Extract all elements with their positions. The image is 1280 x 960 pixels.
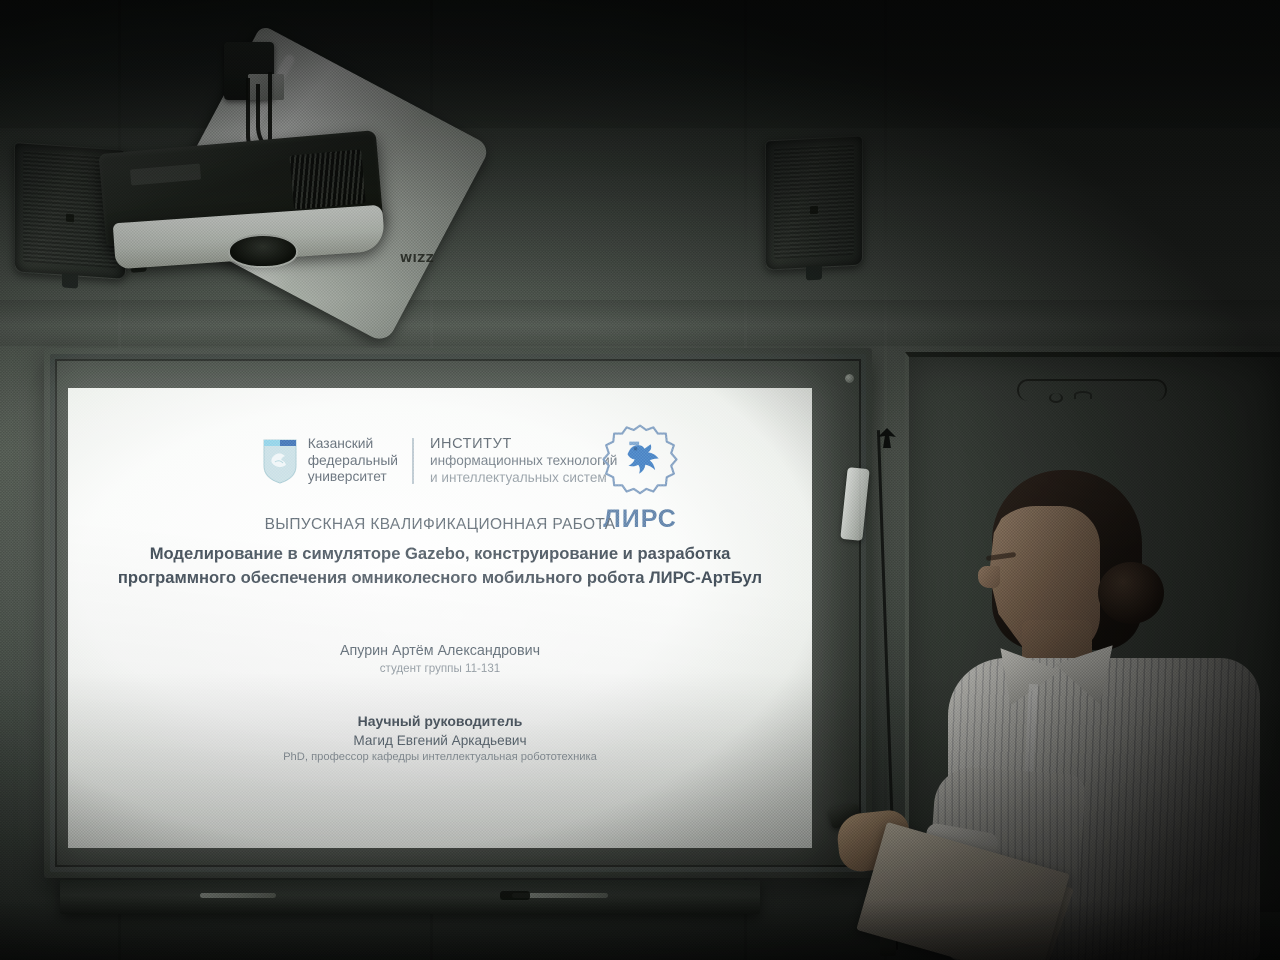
speaker-center-dot <box>810 205 818 213</box>
wall-band <box>0 300 1280 346</box>
wall-speaker-right <box>765 135 863 270</box>
lirs-gear-dragon-icon <box>588 422 692 509</box>
supervisor-name: Магид Евгений Аркадьевич <box>94 733 786 748</box>
ceiling-projector: WIZZ <box>96 26 456 276</box>
marker-scribble <box>1017 379 1167 401</box>
kfu-shield-icon <box>263 438 297 484</box>
speaker-bracket <box>806 266 822 281</box>
slide-body: ВЫПУСКНАЯ КВАЛИФИКАЦИОННАЯ РАБОТА Модели… <box>68 516 812 763</box>
supervisor-role: PhD, профессор кафедры интеллектуальная … <box>94 751 786 763</box>
projector-brand-label: WIZZ <box>400 252 434 265</box>
marker[interactable] <box>200 893 276 898</box>
logo-divider <box>412 438 414 484</box>
thesis-title-line-2: программного обеспечения омниколесного м… <box>94 566 786 590</box>
speaker-center-dot <box>66 213 74 222</box>
thesis-title-line-1: Моделирование в симуляторе Gazebo, конст… <box>94 542 786 566</box>
kfu-logo-group: Казанский федеральный университет <box>263 436 398 486</box>
author-name: Апурин Артём Александрович <box>94 643 786 659</box>
hair-bun <box>1098 562 1164 624</box>
supervisor-label: Научный руководитель <box>94 713 786 729</box>
projector-label-plate <box>130 164 201 186</box>
frame-screw <box>845 374 854 383</box>
marker-scribble <box>1049 393 1063 403</box>
kfu-line-1: Казанский <box>308 436 398 453</box>
speaker-grille <box>774 144 854 259</box>
author-block: Апурин Артём Александрович студент групп… <box>94 643 786 675</box>
projected-slide: Казанский федеральный университет ИНСТИТ… <box>68 388 812 848</box>
nose <box>978 566 1000 588</box>
kfu-line-2: федеральный <box>308 453 398 470</box>
kfu-line-3: университет <box>308 469 398 486</box>
projector-vent <box>289 149 365 209</box>
projector-lens <box>228 234 298 268</box>
marker-cap[interactable] <box>500 891 530 900</box>
kfu-name-block: Казанский федеральный университет <box>308 436 398 486</box>
speaker-bracket <box>62 273 78 288</box>
marker-scribble <box>1074 391 1092 399</box>
floor-shadow <box>0 900 1280 960</box>
interactive-whiteboard[interactable]: Казанский федеральный университет ИНСТИТ… <box>44 348 872 878</box>
author-group: студент группы 11-131 <box>94 662 786 675</box>
lecture-room-scene: WIZZ <box>0 0 1280 960</box>
supervisor-block: Научный руководитель Магид Евгений Аркад… <box>94 713 786 763</box>
slide-header: Казанский федеральный университет ИНСТИТ… <box>68 416 812 506</box>
thesis-type-label: ВЫПУСКНАЯ КВАЛИФИКАЦИОННАЯ РАБОТА <box>94 516 786 534</box>
